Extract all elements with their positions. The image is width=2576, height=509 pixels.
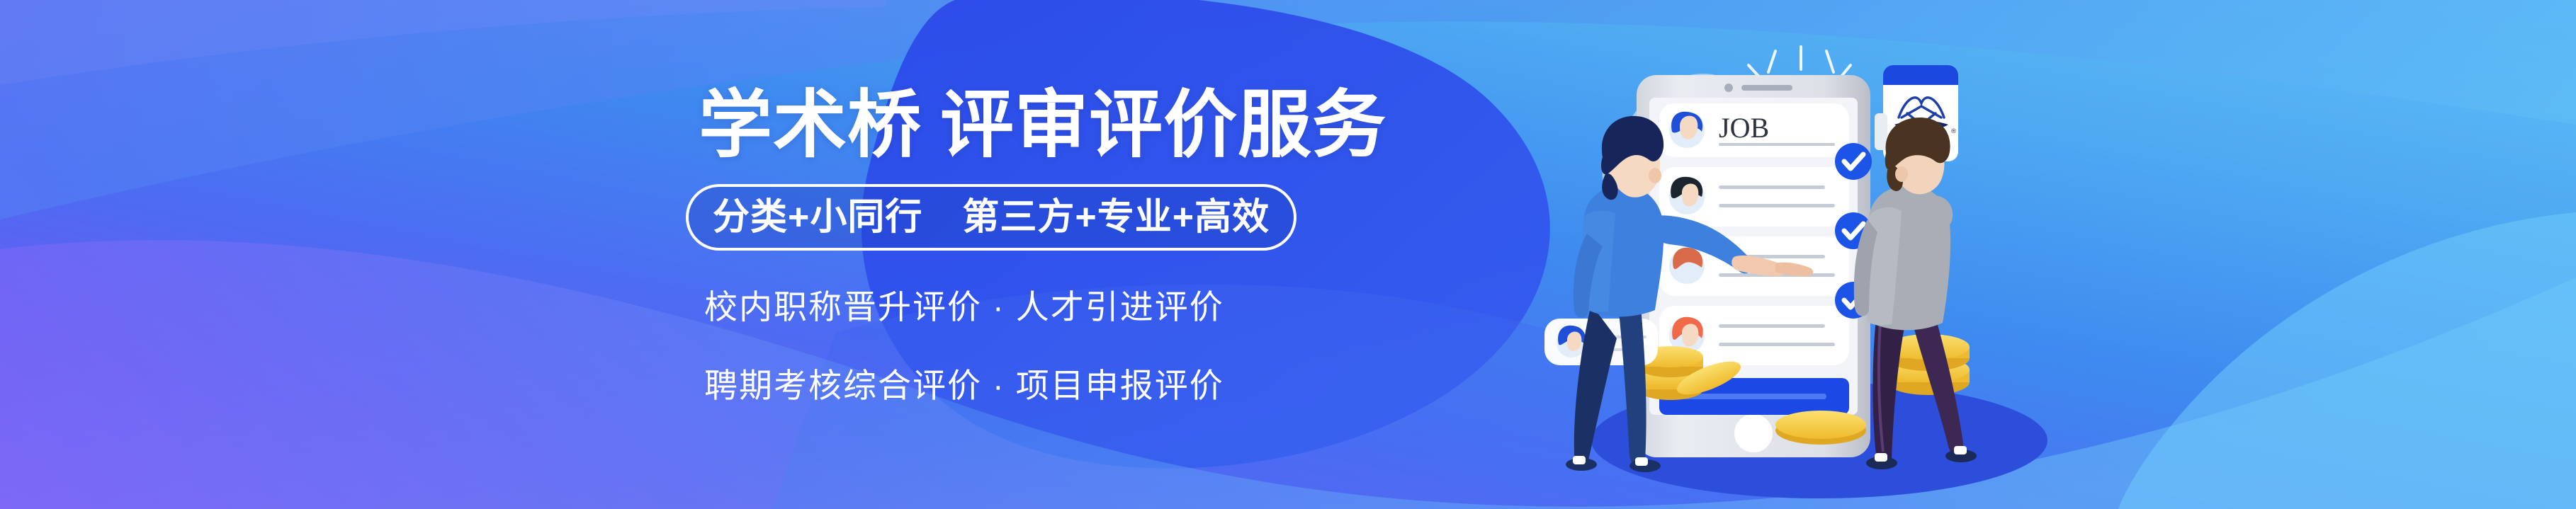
person-right-sock xyxy=(1875,453,1887,462)
logo-registered-icon: ® xyxy=(1950,128,1957,135)
title-brand: 学术桥 xyxy=(699,84,922,166)
text-line xyxy=(1719,185,1825,189)
banner-copy: 学术桥评审评价服务 分类+小同行第三方+专业+高效 校内职称晋升评价 · 人才引… xyxy=(686,84,1536,442)
text-line xyxy=(1719,343,1835,346)
person-right-ear-icon xyxy=(1895,166,1908,182)
pill-segment-thirdparty: 第三方+专业+高效 xyxy=(962,199,1270,236)
person-left-ear-icon xyxy=(1649,168,1661,183)
page-title: 学术桥评审评价服务 xyxy=(699,84,1536,167)
check-icon[interactable] xyxy=(1835,143,1872,180)
text-line xyxy=(1719,324,1825,328)
text-line xyxy=(1719,143,1835,146)
phone-speaker-icon xyxy=(1741,85,1792,91)
feature-pill[interactable]: 分类+小同行第三方+专业+高效 xyxy=(686,184,1297,251)
phone-camera-icon xyxy=(1724,84,1733,92)
text-line xyxy=(1719,204,1835,207)
phone-job-label: JOB xyxy=(1719,112,1769,144)
coin-single-front xyxy=(1775,411,1866,445)
hero-illustration: JOB xyxy=(1523,7,2104,509)
subtitle-line-2: 聘期考核综合评价 · 项目申报评价 xyxy=(704,363,1536,408)
person-left-sock xyxy=(1635,457,1648,466)
title-service: 评审评价服务 xyxy=(940,84,1386,166)
logo-card-header xyxy=(1883,65,1958,85)
subtitle-line-1: 校内职称晋升评价 · 人才引进评价 xyxy=(704,285,1536,330)
logo-card-stem xyxy=(1875,113,1887,150)
person-right-sock xyxy=(1954,446,1967,454)
illustration-svg: JOB xyxy=(1523,7,2104,509)
promo-banner: 学术桥评审评价服务 分类+小同行第三方+专业+高效 校内职称晋升评价 · 人才引… xyxy=(0,0,2576,509)
pill-segment-classification: 分类+小同行 xyxy=(713,199,922,236)
person-left-sock xyxy=(1573,456,1586,464)
phone-home-button[interactable] xyxy=(1734,414,1773,452)
phone-primary-button-label-bar xyxy=(1682,394,1826,399)
